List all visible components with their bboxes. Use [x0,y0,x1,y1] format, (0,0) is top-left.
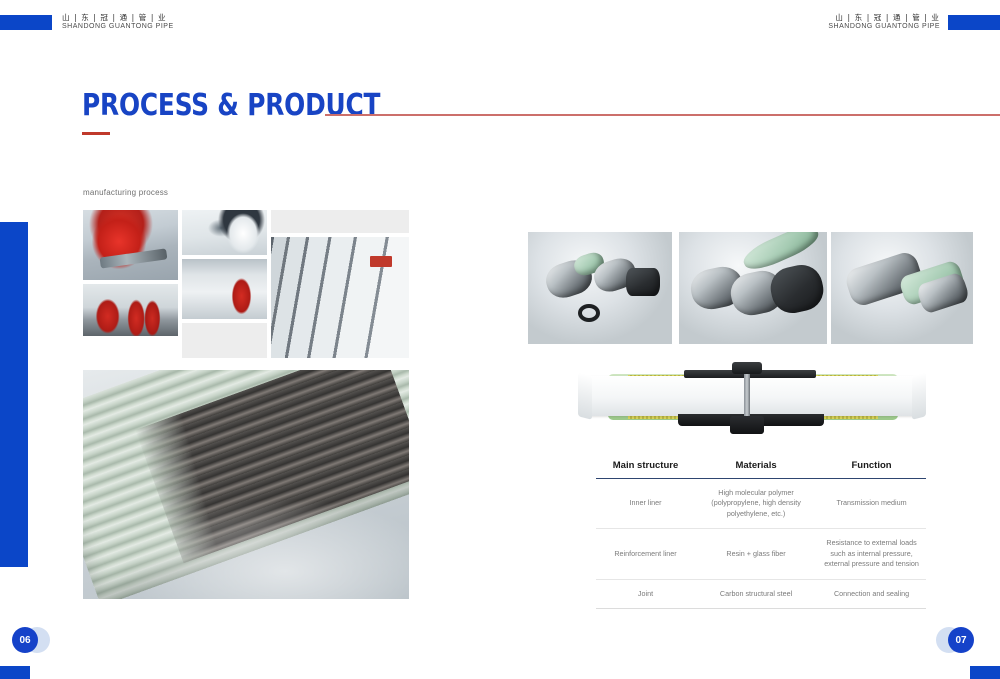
photo-worker-at-machine [182,259,267,319]
logo-text-right: 山 | 东 | 冠 | 通 | 管 | 业 SHANDONG GUANTONG … [828,14,940,30]
title-horizontal-rule [325,114,1000,116]
logo-left: 山 | 东 | 冠 | 通 | 管 | 业 SHANDONG GUANTONG … [0,14,174,30]
page-number-left-value: 06 [12,627,38,653]
page-title-group: PROCESS & PRODUCT [82,88,406,135]
table-header-main-structure: Main structure [596,460,695,479]
logo-right: 山 | 东 | 冠 | 通 | 管 | 业 SHANDONG GUANTONG … [828,14,1000,30]
cell-function: Resistance to external loads such as int… [817,529,926,579]
cell-materials: Resin + glass fiber [695,529,817,579]
cell-materials: Carbon structural steel [695,579,817,608]
logo-english-name: SHANDONG GUANTONG PIPE [62,23,174,30]
cell-function: Connection and sealing [817,579,926,608]
photo-stacked-composite-pipes [83,370,409,599]
inner-liner-shape [584,376,920,416]
logo-chinese-name: 山 | 东 | 冠 | 通 | 管 | 业 [62,14,174,22]
photo-pipe-joint-components [528,232,672,344]
collage-filler-lower [182,323,267,358]
cell-materials: High molecular polymer (polypropylene, h… [695,479,817,529]
title-accent-dash [82,132,110,135]
structure-materials-function-table: Main structure Materials Function Inner … [596,460,926,609]
joint-bolt-head-top-shape [732,362,762,374]
cell-structure: Joint [596,579,695,608]
product-photo-row [528,232,973,344]
photo-pipe-section-pair [831,232,973,344]
pipe-joint-cross-section-diagram [576,362,928,440]
photo-lab-corridor-interior [271,237,409,358]
table-row: Joint Carbon structural steel Connection… [596,579,926,608]
logo-block-icon-right [948,15,1000,30]
page-header: 山 | 东 | 冠 | 通 | 管 | 业 SHANDONG GUANTONG … [0,0,1000,42]
cell-function: Transmission medium [817,479,926,529]
footer-blue-bar-right [970,666,1000,679]
collage-filler-upper [271,210,409,233]
page-title: PROCESS & PRODUCT [82,88,380,123]
left-edge-blue-bar [0,222,28,567]
table-header-materials: Materials [695,460,817,479]
footer-blue-bar-left [0,666,30,679]
page-number-right-value: 07 [948,627,974,653]
photo-workers-at-bench [83,284,178,336]
cell-structure: Reinforcement liner [596,529,695,579]
table-header-function: Function [817,460,926,479]
logo-chinese-name-right: 山 | 东 | 冠 | 通 | 管 | 业 [828,14,940,22]
logo-english-name-right: SHANDONG GUANTONG PIPE [828,23,940,30]
section-caption: manufacturing process [83,188,168,197]
table-header-row: Main structure Materials Function [596,460,926,479]
joint-bolt-head-bottom-shape [730,416,764,434]
manufacturing-photo-collage [83,210,409,358]
photo-gloss-overlay [83,370,409,599]
logo-text-left: 山 | 东 | 冠 | 通 | 管 | 业 SHANDONG GUANTONG … [62,14,174,30]
table-row: Reinforcement liner Resin + glass fiber … [596,529,926,579]
photo-pipe-ends-assembly [679,232,827,344]
page-number-right: 07 [936,627,988,653]
table-row: Inner liner High molecular polymer (poly… [596,479,926,529]
page-number-left: 06 [12,627,64,653]
photo-lab-technician-testing [182,210,267,255]
cell-structure: Inner liner [596,479,695,529]
photo-worker-grinding-pipe [83,210,178,280]
logo-block-icon [0,15,52,30]
page-spread: 山 | 东 | 冠 | 通 | 管 | 业 SHANDONG GUANTONG … [0,0,1000,679]
